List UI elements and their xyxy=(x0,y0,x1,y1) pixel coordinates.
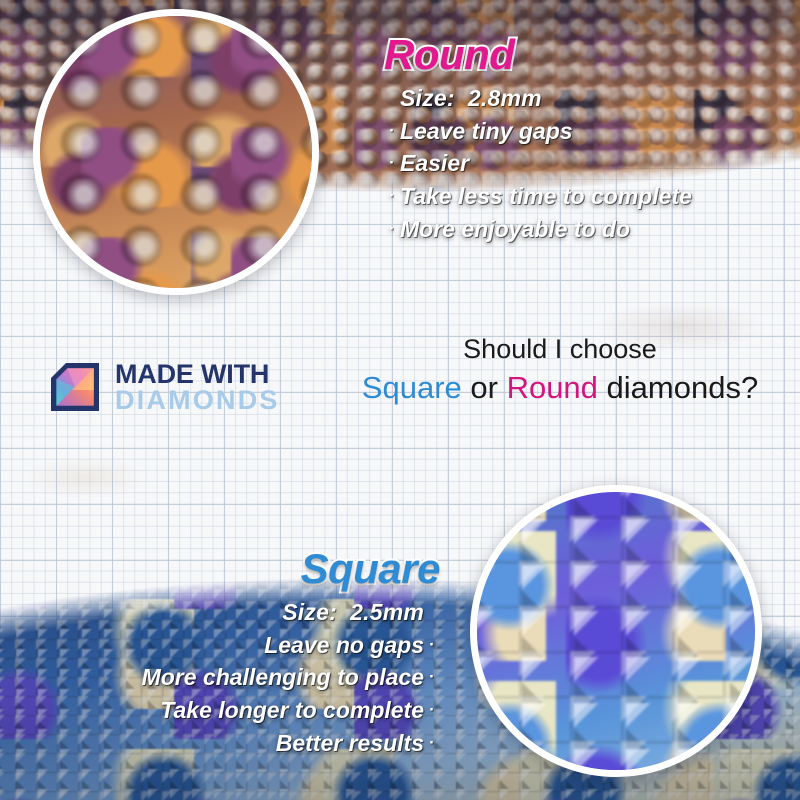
infographic-canvas: Round · Size: 2.8mm · Leave tiny gaps · … xyxy=(0,0,800,800)
square-diamonds-closeup-image xyxy=(470,485,762,777)
round-spec-list: · Size: 2.8mm · Leave tiny gaps · Easier… xyxy=(384,82,784,245)
list-item: Leave no gaps · xyxy=(10,629,440,662)
round-bullet-label: More enjoyable to do xyxy=(400,213,630,246)
brand-name-line2: DIAMONDS xyxy=(115,388,280,412)
list-item: Better results · xyxy=(10,727,440,760)
list-item: More challenging to place · xyxy=(10,661,440,694)
diamond-logo-icon xyxy=(48,360,102,414)
round-bullet-label: Leave tiny gaps xyxy=(400,115,573,148)
question-tail: diamonds? xyxy=(598,370,758,405)
list-item: · Leave tiny gaps xyxy=(384,115,784,148)
brand-name-line1: MADE WITH xyxy=(115,362,280,386)
round-info-block: Round · Size: 2.8mm · Leave tiny gaps · … xyxy=(384,34,784,245)
square-bullet-label: Take longer to complete xyxy=(160,694,424,727)
square-bullet-label: Better results xyxy=(276,727,424,760)
question-line-2: Square or Round diamonds? xyxy=(330,370,790,407)
question-line-1: Should I choose xyxy=(330,334,790,366)
bullet-icon: · xyxy=(424,698,440,722)
round-bullet-label: Take less time to complete xyxy=(400,180,692,213)
square-info-block: Square Size: 2.5mm · Leave no gaps · Mor… xyxy=(10,548,440,759)
list-item: · More enjoyable to do xyxy=(384,213,784,246)
round-size-value: 2.8mm xyxy=(468,85,542,111)
round-spec-size: · Size: 2.8mm xyxy=(384,82,784,115)
bullet-icon: · xyxy=(424,731,440,755)
round-bullet-label: Easier xyxy=(400,147,469,180)
list-item: · Take less time to complete xyxy=(384,180,784,213)
square-magnifier-inset xyxy=(470,485,762,777)
question-round-word: Round xyxy=(507,370,598,405)
brand-wordmark: MADE WITH DIAMONDS xyxy=(115,362,280,413)
question-square-word: Square xyxy=(362,370,462,405)
square-heading: Square xyxy=(10,548,440,590)
round-magnifier-inset xyxy=(33,9,319,295)
question-connector: or xyxy=(462,370,507,405)
round-diamonds-closeup-image xyxy=(33,9,319,295)
center-band: MADE WITH DIAMONDS Should I choose Squar… xyxy=(0,300,800,480)
round-heading: Round xyxy=(384,34,784,76)
square-size-label: Size: xyxy=(282,599,337,625)
brand-logo[interactable]: MADE WITH DIAMONDS xyxy=(48,360,280,414)
list-item: Take longer to complete · xyxy=(10,694,440,727)
headline-question: Should I choose Square or Round diamonds… xyxy=(330,334,790,406)
square-spec-list: Size: 2.5mm · Leave no gaps · More chall… xyxy=(10,596,440,759)
bullet-icon: · xyxy=(384,184,400,208)
bullet-icon: · xyxy=(384,119,400,143)
list-item: · Easier xyxy=(384,147,784,180)
bullet-icon: · xyxy=(424,665,440,689)
bullet-icon: · xyxy=(424,633,440,657)
square-bullet-label: More challenging to place xyxy=(142,661,424,694)
round-size-label: Size: xyxy=(400,85,455,111)
square-size-value: 2.5mm xyxy=(350,599,424,625)
bullet-icon: · xyxy=(384,151,400,175)
square-spec-size: Size: 2.5mm · xyxy=(10,596,440,629)
bullet-icon: · xyxy=(384,217,400,241)
square-bullet-label: Leave no gaps xyxy=(264,629,424,662)
